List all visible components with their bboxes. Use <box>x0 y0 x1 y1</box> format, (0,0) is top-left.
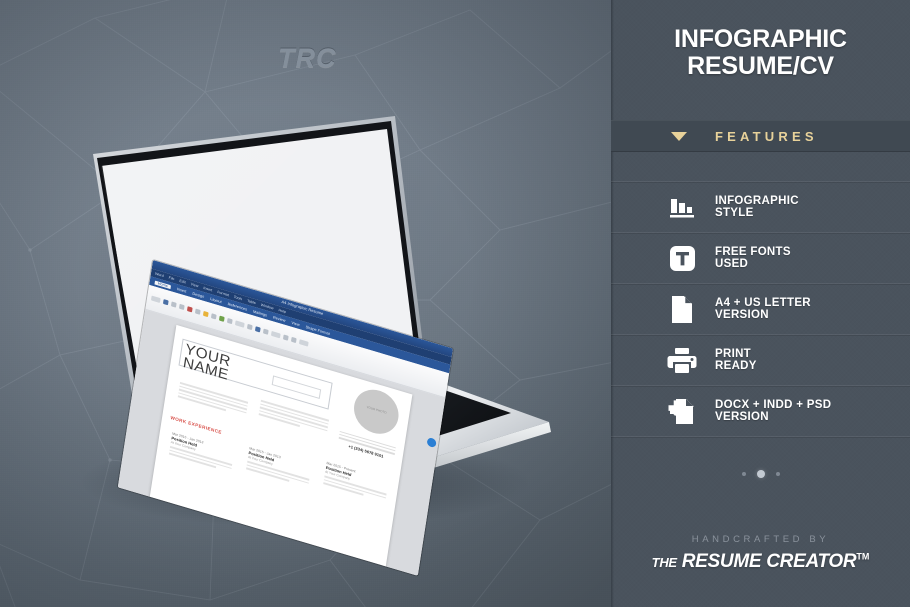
info-panel: INFOGRAPHIC RESUME/CV FEATURES INFOGRAPH… <box>611 0 910 607</box>
trademark-symbol: TM <box>856 552 869 562</box>
footer-branding: HANDCRAFTED BY THE RESUME CREATORTM <box>611 534 910 573</box>
feature-label-group: DOCX + INDD + PSD VERSION <box>715 399 831 424</box>
feature-label-line2: STYLE <box>715 207 799 220</box>
features-header-bar: FEATURES <box>611 120 910 152</box>
carousel-dot-1[interactable] <box>742 472 746 476</box>
title-line-2: RESUME/CV <box>611 53 910 80</box>
brand-name-main: RESUME CREATOR <box>682 551 857 572</box>
feature-label-line1: A4 + US LETTER <box>715 297 811 310</box>
feature-row-docx-indd-psd[interactable]: DOCX + INDD + PSD VERSION <box>611 386 910 436</box>
feature-label-line2: VERSION <box>715 309 811 322</box>
feature-row-print-ready[interactable]: PRINT READY <box>611 335 910 385</box>
bar-chart-icon <box>659 194 705 220</box>
title-line-1: INFOGRAPHIC <box>611 26 910 53</box>
feature-label-group: INFOGRAPHIC STYLE <box>715 195 799 220</box>
document-page-icon <box>659 295 705 324</box>
feature-label-line2: READY <box>715 360 757 373</box>
feature-label-line1: INFOGRAPHIC <box>715 195 799 208</box>
feature-label-group: FREE FONTS USED <box>715 246 791 271</box>
brand-name-the: THE <box>652 555 677 570</box>
trc-watermark-logo: TRC <box>278 43 337 74</box>
features-header-label: FEATURES <box>715 129 818 144</box>
font-type-icon <box>659 245 705 272</box>
feature-label-line2: USED <box>715 258 791 271</box>
carousel-dot-3[interactable] <box>776 472 780 476</box>
laptop-mockup: MacBook <box>55 110 575 530</box>
promo-banner: TRC <box>0 0 910 607</box>
feature-label-line1: FREE FONTS <box>715 246 791 259</box>
carousel-dot-2-active[interactable] <box>757 470 765 478</box>
feature-label-group: A4 + US LETTER VERSION <box>715 297 811 322</box>
feature-row-free-fonts[interactable]: FREE FONTS USED <box>611 233 910 283</box>
product-mockup-panel: TRC <box>0 0 611 607</box>
feature-row-a4-us-letter[interactable]: A4 + US LETTER VERSION <box>611 284 910 334</box>
carousel-dots[interactable] <box>611 470 910 478</box>
feature-row-infographic-style[interactable]: INFOGRAPHIC STYLE <box>611 182 910 232</box>
feature-label-line2: VERSION <box>715 411 831 424</box>
printer-icon <box>659 347 705 374</box>
feature-divider <box>611 436 910 437</box>
page-title: INFOGRAPHIC RESUME/CV <box>611 26 910 80</box>
feature-label-line1: DOCX + INDD + PSD <box>715 399 831 412</box>
feature-label-line1: PRINT <box>715 348 757 361</box>
handcrafted-label: HANDCRAFTED BY <box>611 534 910 545</box>
feature-label-group: PRINT READY <box>715 348 757 373</box>
caret-down-icon <box>671 132 687 141</box>
brand-name: THE RESUME CREATORTM <box>611 551 910 573</box>
document-add-icon <box>659 397 705 426</box>
